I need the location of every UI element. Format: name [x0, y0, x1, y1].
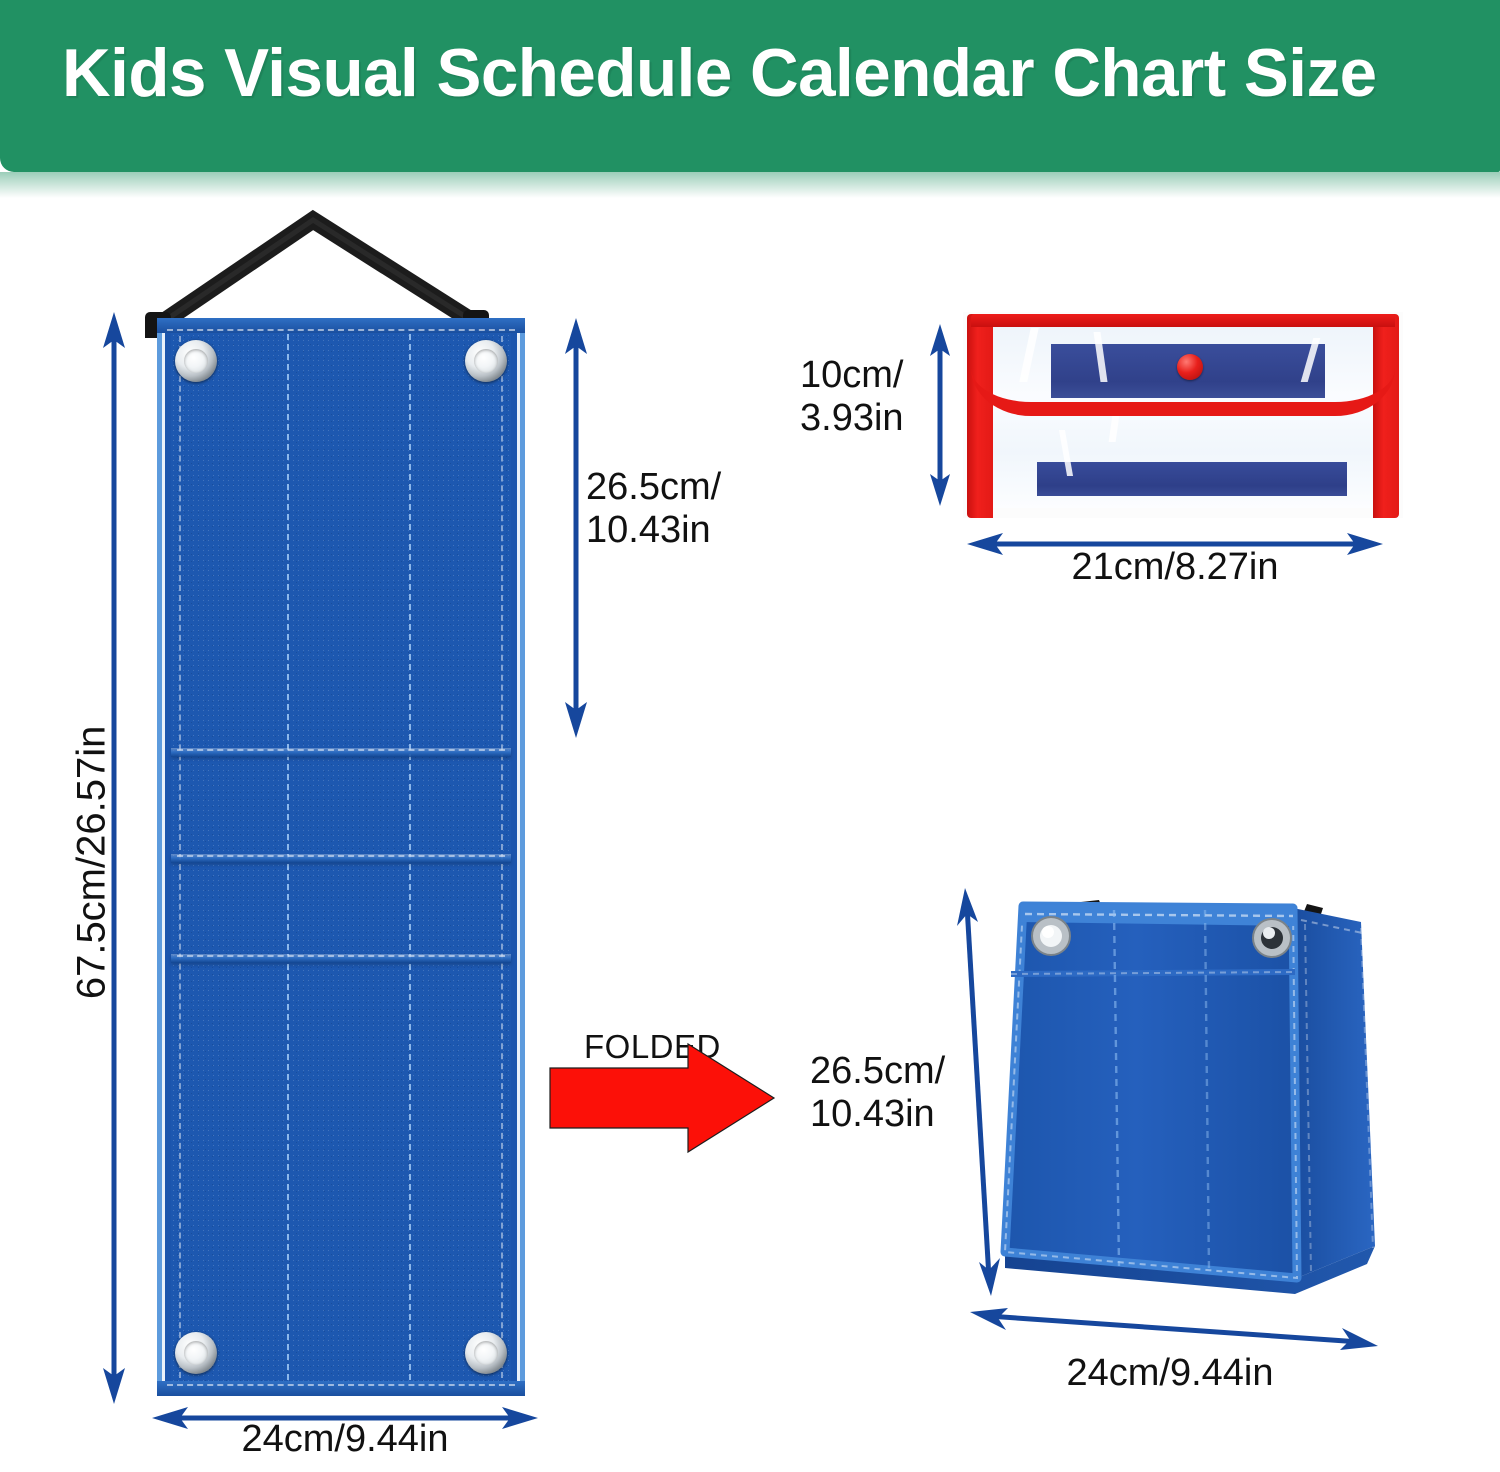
chart-pocket-seam	[171, 854, 511, 863]
banner-shadow	[0, 172, 1500, 198]
pouch-snap-button-icon[interactable]	[1177, 354, 1203, 380]
folded-red-arrow-icon	[548, 1040, 776, 1161]
dimension-pocket-height: 26.5cm/ 10.43in	[586, 466, 816, 551]
grommet-top-left	[175, 340, 217, 382]
chart-top-binding	[157, 318, 525, 333]
dimension-folded-width: 24cm/9.44in	[960, 1352, 1380, 1395]
header-banner: Kids Visual Schedule Calendar Chart Size	[0, 0, 1500, 172]
grommet-top-right	[465, 340, 507, 382]
pouch-insert-blue-bottom	[1037, 462, 1347, 496]
grommet-bottom-right	[465, 1332, 507, 1374]
grommet-bottom-left	[175, 1332, 217, 1374]
dimension-folded-height: 26.5cm/ 10.43in	[810, 1050, 960, 1135]
hanging-chart-product	[157, 318, 525, 1396]
pouch-flap-top-edge	[971, 314, 1395, 327]
dimension-pouch-height: 10cm/ 3.93in	[800, 354, 928, 439]
dimension-total-height: 67.5cm/26.57in	[70, 642, 115, 1082]
folded-width-arrow	[968, 1300, 1380, 1359]
clear-pouch-product	[963, 312, 1403, 518]
dimension-pouch-width: 21cm/8.27in	[965, 546, 1385, 589]
chart-bottom-binding	[157, 1381, 525, 1396]
chart-pocket-seam	[171, 954, 511, 963]
dimension-total-width: 24cm/9.44in	[155, 1418, 535, 1461]
page-title: Kids Visual Schedule Calendar Chart Size	[62, 34, 1377, 112]
folded-height-arrow	[955, 886, 1007, 1303]
chart-pocket-seam	[171, 748, 511, 757]
folded-bag-product	[975, 880, 1395, 1300]
